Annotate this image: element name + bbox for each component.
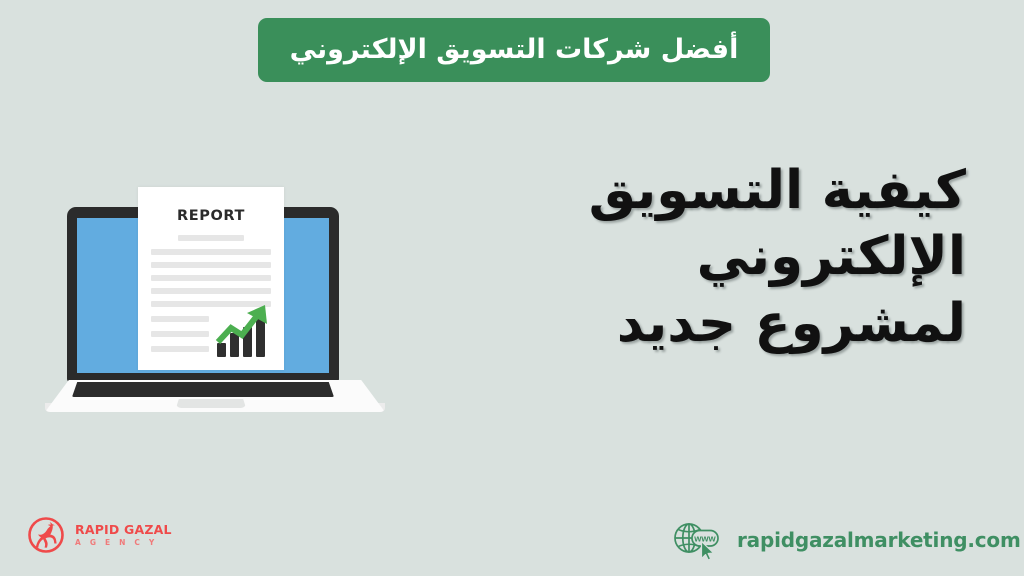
report-document: REPORT <box>138 187 284 370</box>
website-badge[interactable]: www rapidgazalmarketing.com <box>672 518 1021 562</box>
poster-canvas: أفضل شركات التسويق الإلكتروني كيفية التس… <box>0 0 1024 576</box>
doc-text-line <box>151 346 209 352</box>
gazelle-logo-icon <box>26 515 66 555</box>
doc-text-line <box>151 275 271 281</box>
laptop-trackpad <box>176 399 246 408</box>
headline: كيفية التسويق الإلكتروني لمشروع جديد <box>546 158 966 357</box>
doc-text-line <box>151 316 209 322</box>
laptop-illustration: REPORT <box>45 175 385 420</box>
doc-text-line <box>151 288 271 294</box>
top-banner: أفضل شركات التسويق الإلكتروني <box>258 18 770 82</box>
report-title: REPORT <box>138 208 284 224</box>
agency-wordmark: RAPID GAZAL A G E N C Y <box>75 524 172 546</box>
headline-line-1: كيفية التسويق <box>546 158 966 224</box>
top-banner-text: أفضل شركات التسويق الإلكتروني <box>290 34 739 65</box>
website-url[interactable]: rapidgazalmarketing.com <box>737 528 1021 552</box>
laptop-keyboard <box>72 382 334 397</box>
doc-text-line <box>178 235 244 241</box>
globe-www-cursor-icon: www <box>672 518 724 562</box>
agency-name: RAPID GAZAL <box>75 524 172 537</box>
headline-line-3: لمشروع جديد <box>546 291 966 357</box>
doc-text-line <box>151 262 271 268</box>
report-bar-chart <box>215 302 275 357</box>
trend-arrow-icon <box>215 302 275 357</box>
doc-text-line <box>151 249 271 255</box>
agency-sub-label: A G E N C Y <box>75 539 172 547</box>
headline-line-2: الإلكتروني <box>546 224 966 290</box>
www-label: www <box>693 534 716 544</box>
agency-logo: RAPID GAZAL A G E N C Y <box>26 515 172 555</box>
doc-text-line <box>151 331 209 337</box>
